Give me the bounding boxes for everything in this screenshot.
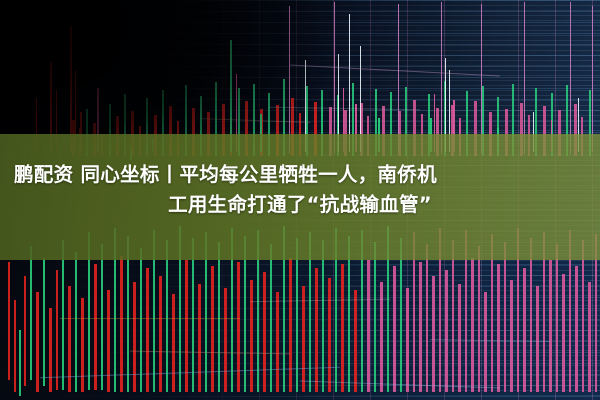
headline-line-2: 工用生命打通了“抗战输血管” (0, 190, 600, 220)
screenshot-canvas: 鹏配资 同心坐标丨平均每公里牺牲一人，南侨机 工用生命打通了“抗战输血管” (0, 0, 600, 400)
headline-text: 鹏配资 同心坐标丨平均每公里牺牲一人，南侨机 工用生命打通了“抗战输血管” (0, 160, 600, 220)
headline-line-1: 鹏配资 同心坐标丨平均每公里牺牲一人，南侨机 (0, 160, 600, 190)
